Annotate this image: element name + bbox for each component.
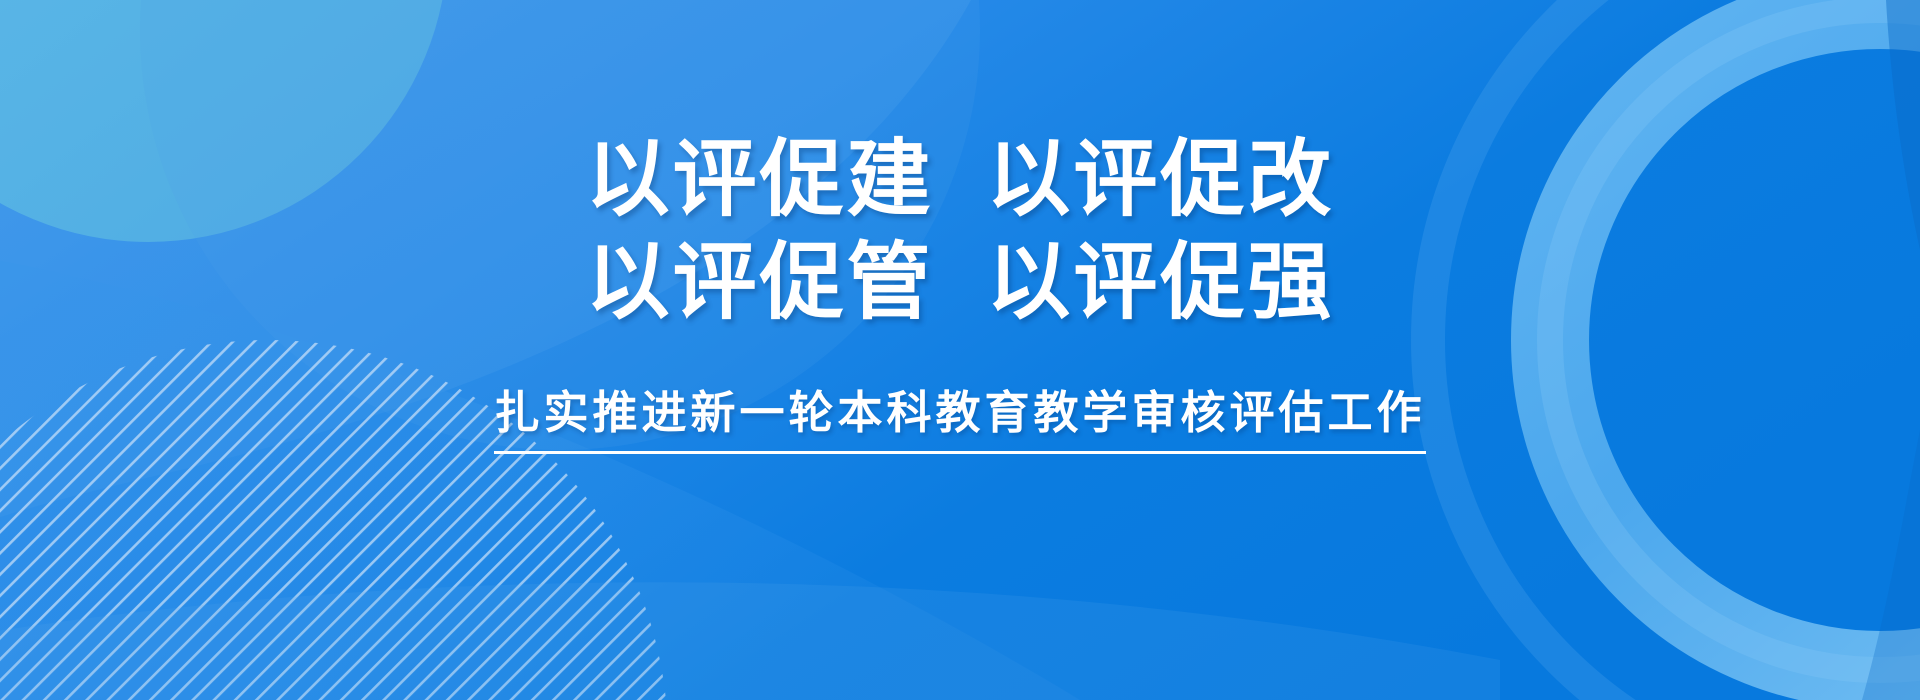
subtitle-block: 扎实推进新一轮本科教育教学审核评估工作 xyxy=(494,385,1425,454)
headline-line-1: 以评促建 以评促改 xyxy=(586,128,1335,231)
banner-content: 以评促建 以评促改 以评促管 以评促强 扎实推进新一轮本科教育教学审核评估工作 xyxy=(0,0,1920,700)
promotional-banner: 以评促建 以评促改 以评促管 以评促强 扎实推进新一轮本科教育教学审核评估工作 xyxy=(0,0,1920,700)
headline-block: 以评促建 以评促改 以评促管 以评促强 xyxy=(586,128,1335,335)
headline-line-2: 以评促管 以评促强 xyxy=(586,231,1335,334)
banner-subtitle: 扎实推进新一轮本科教育教学审核评估工作 xyxy=(494,385,1425,454)
